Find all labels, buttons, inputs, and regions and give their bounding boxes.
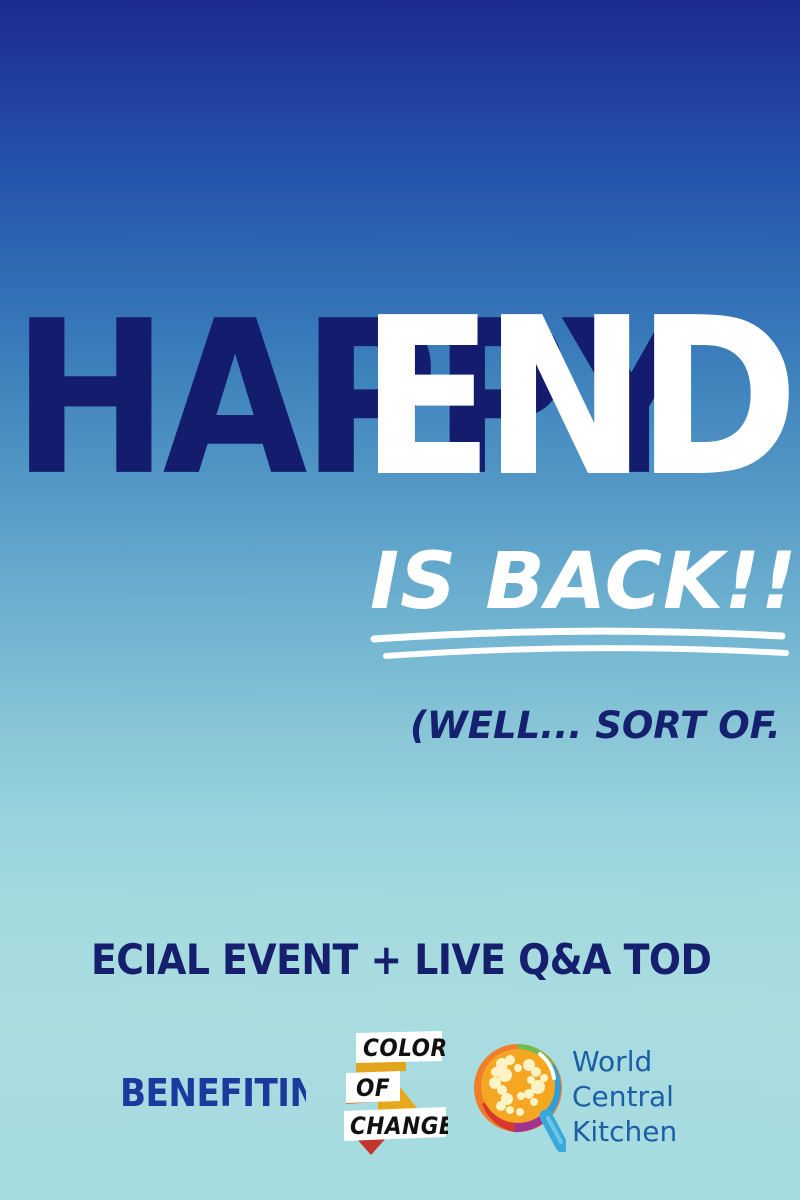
title-word-endings: ENDINGS	[360, 272, 800, 502]
wck-line-3: Kitchen	[572, 1115, 677, 1145]
aside-text: (WELL... SORT OF...)	[410, 704, 776, 747]
hand-drawn-double-underline	[374, 631, 786, 656]
benefiting-row: BENEFITING COLOR OF CHANGE	[0, 1028, 800, 1158]
main-title-svg: HAPPY ENDINGS	[8, 272, 800, 502]
event-announcement-svg: SPECIAL EVENT + LIVE Q&A TODAY	[90, 932, 710, 988]
event-announcement-text: SPECIAL EVENT + LIVE Q&A TODAY	[90, 935, 710, 984]
benefiting-label-svg: BENEFITING	[120, 1069, 306, 1117]
benefiting-label: BENEFITING	[120, 1069, 306, 1117]
coc-line-2: OF	[356, 1074, 390, 1102]
coc-line-1: COLOR	[363, 1034, 448, 1062]
wck-wordmark: World Central Kitchen	[572, 1041, 680, 1145]
aside-svg: (WELL... SORT OF...)	[406, 690, 776, 756]
subtitle-svg: IS BACK!!!	[362, 520, 792, 670]
wck-pan-handle	[546, 1116, 562, 1146]
world-central-kitchen-logo[interactable]: World Central Kitchen	[474, 1034, 680, 1152]
color-of-change-logo[interactable]: COLOR OF CHANGE	[332, 1031, 448, 1155]
aside-block: (WELL... SORT OF...)	[0, 690, 776, 756]
poster-canvas: HAPPY ENDINGS IS BACK!!! (WELL... SORT O…	[0, 0, 800, 1200]
wck-line-1: World	[572, 1045, 652, 1078]
coc-line-3: CHANGE	[350, 1112, 448, 1140]
benefiting-label-text: BENEFITING	[120, 1071, 306, 1115]
subtitle-block: IS BACK!!!	[0, 520, 792, 680]
subtitle-text: IS BACK!!!	[370, 537, 792, 627]
wck-pan-icon	[474, 1034, 566, 1152]
wck-line-2: Central	[572, 1080, 674, 1113]
main-title: HAPPY ENDINGS	[0, 272, 800, 502]
event-announcement: SPECIAL EVENT + LIVE Q&A TODAY	[0, 932, 800, 993]
